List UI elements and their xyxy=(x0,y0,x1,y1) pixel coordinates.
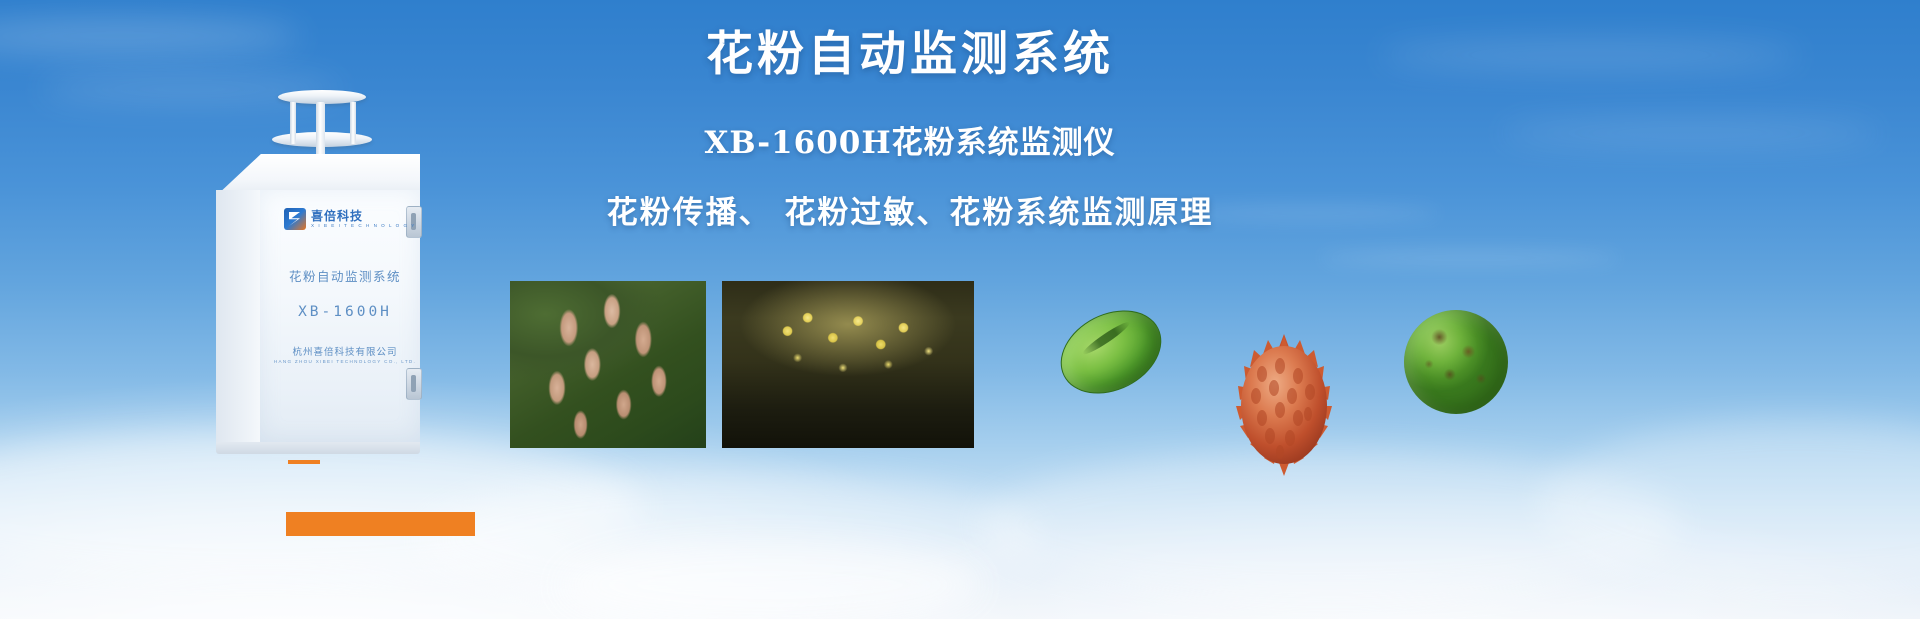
pollen-monitoring-station-device: 喜倍科技 X I B E I T E C H N O L O G Y 花粉自动监… xyxy=(198,80,448,448)
brand-name-en: X I B E I T E C H N O L O G Y xyxy=(311,224,416,229)
banner-tagline: 花粉传播、 花粉过敏、花粉系统监测原理 xyxy=(560,187,1260,232)
orange-accent-band xyxy=(286,512,475,536)
device-product-name: 花粉自动监测系统 xyxy=(260,266,430,285)
banner-text-block: 花粉自动监测系统 XB-1600H花粉系统监测仪 花粉传播、 花粉过敏、花粉系统… xyxy=(560,26,1260,232)
green-mottled-pollen-grain xyxy=(1404,310,1508,414)
sampler-leg xyxy=(290,102,296,144)
brand-name-cn: 喜倍科技 xyxy=(311,210,416,222)
yellow-catkin-photo xyxy=(722,281,974,448)
device-side-panel xyxy=(216,190,262,442)
xibei-logo-icon xyxy=(284,208,306,230)
accent-tick-mark xyxy=(288,460,320,464)
device-model-number: XB-1600H xyxy=(260,304,430,320)
cabinet-latch-lower[interactable] xyxy=(406,368,422,400)
cedar-cones-photo xyxy=(510,281,706,448)
brand-logo: 喜倍科技 X I B E I T E C H N O L O G Y xyxy=(284,208,416,230)
red-spiky-pollen-grain xyxy=(1232,334,1336,476)
banner-subtitle: XB-1600H花粉系统监测仪 xyxy=(560,117,1260,162)
banner-root: 喜倍科技 X I B E I T E C H N O L O G Y 花粉自动监… xyxy=(0,0,1920,619)
brand-logo-text: 喜倍科技 X I B E I T E C H N O L O G Y xyxy=(311,210,416,229)
red-spiky-pollen-grain-icon xyxy=(1232,334,1336,476)
device-company-en: HANG ZHOU XIBEI TECHNOLOGY CO., LTD. xyxy=(260,359,430,364)
banner-headline: 花粉自动监测系统 xyxy=(560,26,1260,85)
device-base-plinth xyxy=(216,442,420,454)
sampler-leg xyxy=(350,102,356,144)
cloud-wisp xyxy=(1320,250,1620,266)
device-company-cn: 杭州喜倍科技有限公司 xyxy=(260,344,430,358)
